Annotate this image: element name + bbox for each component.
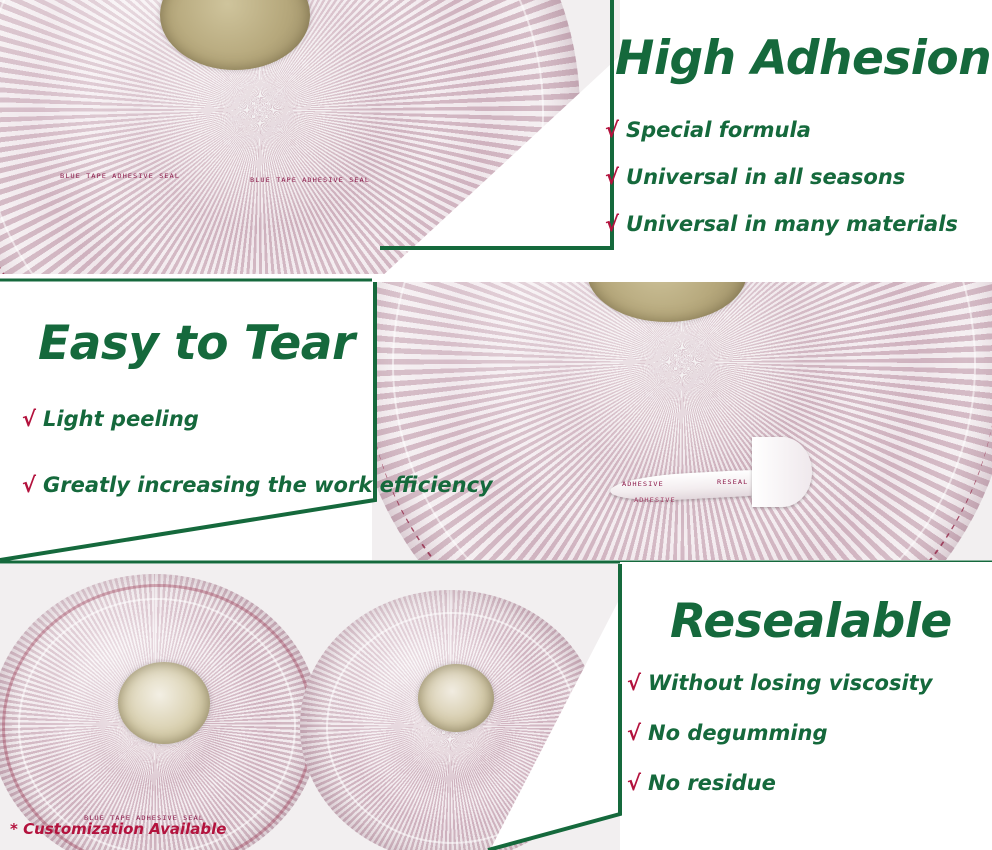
heading-resealable: Resealable [670,598,952,645]
check-icon: √ [605,212,619,236]
section-resealable: Resealable √ Without losing viscosity √ … [612,564,992,850]
check-icon: √ [22,407,36,431]
bullet-item: √ Greatly increasing the work efficiency [22,473,493,497]
check-icon: √ [627,671,641,695]
section-easy-to-tear: Easy to Tear √ Light peeling √ Greatly i… [0,282,580,560]
bullet-item: √ No residue [627,771,932,795]
heading-easy-to-tear: Easy to Tear [38,320,355,367]
photo-resealable: BLUE TAPE ADHESIVE SEAL [0,564,640,850]
bullet-label: Special formula [626,118,811,142]
reel-core-front [118,662,210,744]
customization-footnote: * Customization Available [10,820,226,838]
reel-core-back [418,664,494,732]
heading-high-adhesion: High Adhesion [615,35,991,82]
tape-print-text-2: BLUE TAPE ADHESIVE SEAL [250,176,370,183]
section-high-adhesion: High Adhesion √ Special formula √ Univer… [600,0,992,278]
product-feature-infographic: BLUE TAPE ADHESIVE SEAL BLUE TAPE ADHESI… [0,0,992,850]
peeled-liner-curl [752,437,812,507]
check-icon: √ [605,165,619,189]
tape-print-text: BLUE TAPE ADHESIVE SEAL [60,172,180,179]
liner-print-text-lower: ADHESIVE [634,496,676,503]
bullet-item: √ Without losing viscosity [627,671,932,695]
bullet-item: √ No degumming [627,721,932,745]
check-icon: √ [627,771,641,795]
bullet-label: No degumming [648,721,828,745]
bullet-item: √ Light peeling [22,407,493,431]
bullet-label: Universal in all seasons [626,165,905,189]
photo-high-adhesion: BLUE TAPE ADHESIVE SEAL BLUE TAPE ADHESI… [0,0,620,278]
bullet-label: Universal in many materials [626,212,958,236]
bullet-label: Light peeling [43,407,199,431]
check-icon: √ [627,721,641,745]
check-icon: √ [22,473,36,497]
liner-print-text-left: ADHESIVE [622,480,664,487]
bullet-label: No residue [648,771,776,795]
liner-print-text-right: RESEAL [717,478,748,485]
check-icon: √ [605,118,619,142]
bullet-label: Without losing viscosity [648,671,932,695]
bullet-item: √ Universal in all seasons [605,165,958,189]
bullet-item: √ Special formula [605,118,958,142]
tape-reels-photo-bottom: BLUE TAPE ADHESIVE SEAL [0,564,640,850]
bullet-label: Greatly increasing the work efficiency [43,473,493,497]
bullet-item: √ Universal in many materials [605,212,958,236]
